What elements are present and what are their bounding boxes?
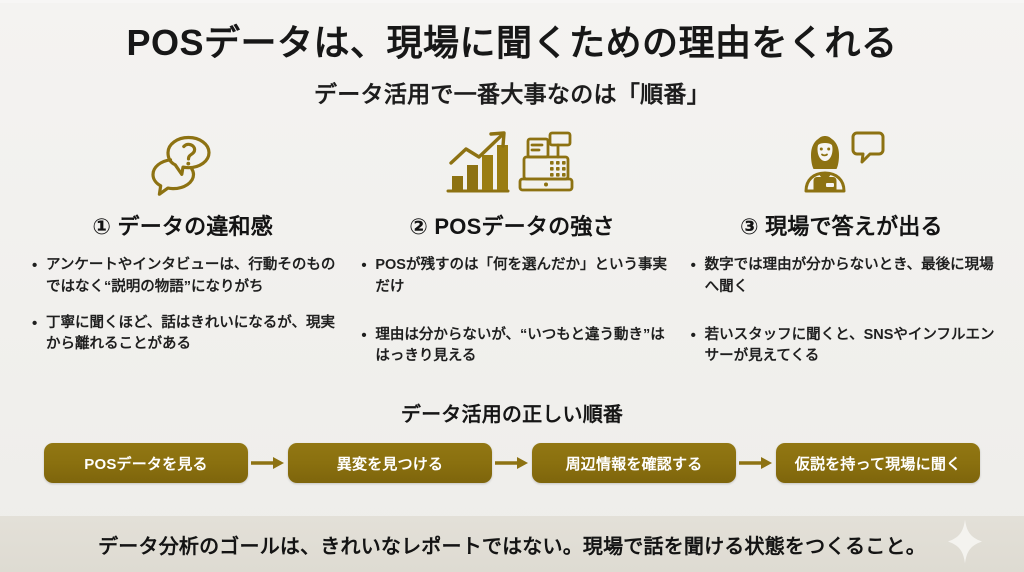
bar-chart-cash-register-icon xyxy=(442,127,582,199)
title-block: POSデータは、現場に聞くための理由をくれる データ活用で一番大事なのは「順番」 xyxy=(0,0,1024,109)
list-item: • アンケートやインタビューは、行動そのものではなく“説明の物語”になりがち xyxy=(32,255,339,299)
bullet-dot-icon: • xyxy=(361,255,375,277)
bullet-list: • POSが残すのは「何を選んだか」という事実だけ • 理由は分からないが、“い… xyxy=(355,255,668,394)
list-item: • 理由は分からないが、“いつもと違う動き”ははっきり見える xyxy=(361,325,668,369)
columns-container: ① データの違和感 • アンケートやインタビューは、行動そのものではなく“説明の… xyxy=(0,127,1024,394)
list-item-text: 理由は分からないが、“いつもと違う動き”ははっきり見える xyxy=(375,325,668,369)
flow-step-4[interactable]: 仮説を持って現場に聞く xyxy=(776,443,980,483)
bullet-dot-icon: • xyxy=(691,255,705,277)
list-item-text: 数字では理由が分からないとき、最後に現場へ聞く xyxy=(705,255,998,299)
page-title: POSデータは、現場に聞くための理由をくれる xyxy=(0,20,1024,65)
list-item-text: 丁寧に聞くほど、話はきれいになるが、現実から離れることがある xyxy=(46,313,339,357)
flow-heading: データ活用の正しい順番 xyxy=(0,398,1024,427)
page-subtitle: データ活用で一番大事なのは「順番」 xyxy=(0,75,1024,109)
list-item: • 丁寧に聞くほど、話はきれいになるが、現実から離れることがある xyxy=(32,313,339,357)
flow-step-1[interactable]: POSデータを見る xyxy=(44,443,248,483)
column-heading: ② POSデータの強さ xyxy=(409,209,614,241)
bullet-list: • アンケートやインタビューは、行動そのものではなく“説明の物語”になりがち •… xyxy=(26,255,339,370)
list-item: • 若いスタッフに聞くと、SNSやインフルエンサーが見えてくる xyxy=(691,325,998,369)
flow-diagram: POSデータを見る 異変を見つける 周辺情報を確認する 仮説を持って現場に聞く xyxy=(0,443,1024,483)
list-item: • 数字では理由が分からないとき、最後に現場へ聞く xyxy=(691,255,998,299)
store-staff-speech-icon xyxy=(795,127,887,199)
arrow-right-icon xyxy=(248,454,288,472)
bullet-dot-icon: • xyxy=(32,313,46,335)
footer-banner: データ分析のゴールは、きれいなレポートではない。現場で話を聞ける状態をつくること… xyxy=(0,516,1024,572)
bullet-dot-icon: • xyxy=(691,325,705,347)
bullet-dot-icon: • xyxy=(361,325,375,347)
flow-step-2[interactable]: 異変を見つける xyxy=(288,443,492,483)
column-field-answers: ③ 現場で答えが出る • 数字では理由が分からないとき、最後に現場へ聞く • 若… xyxy=(677,127,1006,394)
slide-root: POSデータは、現場に聞くための理由をくれる データ活用で一番大事なのは「順番」… xyxy=(0,0,1024,572)
list-item-text: アンケートやインタビューは、行動そのものではなく“説明の物語”になりがち xyxy=(46,255,339,299)
footer-text: データ分析のゴールは、きれいなレポートではない。現場で話を聞ける状態をつくること… xyxy=(98,530,926,559)
list-item-text: 若いスタッフに聞くと、SNSやインフルエンサーが見えてくる xyxy=(705,325,998,369)
arrow-right-icon xyxy=(492,454,532,472)
column-pos-strength: ② POSデータの強さ • POSが残すのは「何を選んだか」という事実だけ • … xyxy=(347,127,676,394)
arrow-right-icon xyxy=(736,454,776,472)
list-item: • POSが残すのは「何を選んだか」という事実だけ xyxy=(361,255,668,299)
column-data-anomaly: ① データの違和感 • アンケートやインタビューは、行動そのものではなく“説明の… xyxy=(18,127,347,394)
flow-step-3[interactable]: 周辺情報を確認する xyxy=(532,443,736,483)
top-edge-band xyxy=(0,0,1024,3)
column-heading: ③ 現場で答えが出る xyxy=(740,209,943,241)
bullet-dot-icon: • xyxy=(32,255,46,277)
column-heading: ① データの違和感 xyxy=(92,209,273,241)
sparkle-icon xyxy=(948,520,982,569)
speech-bubbles-question-icon xyxy=(144,127,222,199)
list-item-text: POSが残すのは「何を選んだか」という事実だけ xyxy=(375,255,668,299)
bullet-list: • 数字では理由が分からないとき、最後に現場へ聞く • 若いスタッフに聞くと、S… xyxy=(685,255,998,394)
